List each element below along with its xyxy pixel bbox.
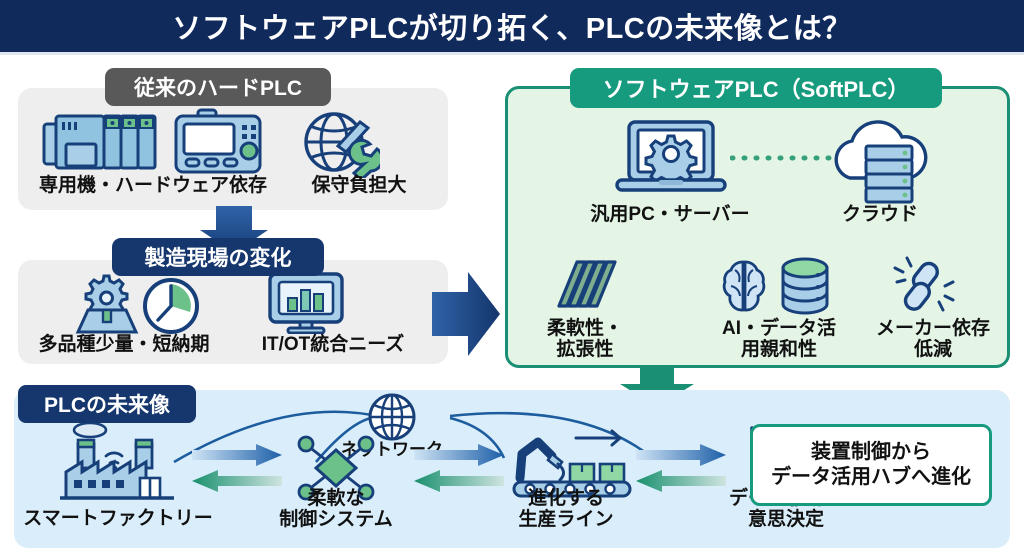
future-node-label-1-line2: 制御システム [279,509,392,530]
softplc-bottom-label-0-line1: 柔軟性・ [547,318,623,339]
globe-wrench-icon [300,108,380,178]
evolution-callout-line2: データ活用ハブへ進化 [771,465,971,490]
future-node-label-2-line1: 進化する [528,488,604,509]
future-node-label-1-line1: 柔軟な [307,488,364,509]
softplc-bottom-label-1-line1: AI・データ活 [722,318,836,339]
cloud-server-icon [822,112,938,204]
gear-box-clock-icon [70,272,210,334]
softplc-top-label-1: クラウド [800,204,960,225]
change-item-label-0: 多品種少量・短納期 [18,334,230,355]
future-node-label-0: スマートファクトリー [18,508,218,529]
page-title-bar: ソフトウェアPLCが切り拓く、PLCの未来像とは？ [0,0,1024,52]
future-node-label-3-line2: 意思決定 [748,509,824,530]
softplc-bottom-label-1: AI・データ活 用親和性 [690,318,868,361]
softplc-bottom-label-0-line2: 拡張性 [556,339,613,360]
change-item-label-1: IT/OT統合ニーズ [228,334,438,355]
evolution-callout-line1: 装置制御から [811,440,931,465]
brain-database-icon [713,256,845,318]
softplc-bottom-label-0: 柔軟性・ 拡張性 [520,318,650,361]
legacy-item-label-2: 保守負担大 [284,175,434,196]
shopfloor-change-badge: 製造現場の変化 [112,238,324,276]
title-underline [0,52,1024,55]
future-node-label-2: 進化する 生産ライン [486,488,646,531]
evolution-callout: 装置制御から データ活用ハブへ進化 [750,424,992,506]
softplc-bottom-label-1-line2: 用親和性 [741,339,817,360]
softplc-bottom-label-2: メーカー依存 低減 [860,318,1006,361]
softplc-bottom-label-2-line2: 低減 [914,339,952,360]
laptop-gear-icon [615,118,727,204]
smart-factory-icon [58,420,176,506]
softplc-top-label-0: 汎用PC・サーバー [570,204,770,225]
softplc-bottom-label-2-line1: メーカー依存 [876,318,990,339]
future-node-label-1: 柔軟な 制御システム [258,488,414,531]
softplc-badge: ソフトウェアPLC（SoftPLC） [570,68,942,108]
right-arrow-navy-icon [432,266,502,362]
legacy-plc-badge: 従来のハードPLC [105,68,331,106]
future-node-label-2-line2: 生産ライン [518,509,613,530]
plc-rack-icon [40,110,160,176]
dotted-connector-icon [730,152,836,164]
broken-chain-icon [893,256,965,318]
future-plc-badge: PLCの未来像 [18,385,196,423]
legacy-item-label-0: 専用機・ハードウェア依存 [18,175,288,196]
page-title: ソフトウェアPLCが切り拓く、PLCの未来像とは？ [172,5,852,47]
monitor-chart-icon [266,272,346,334]
hmi-panel-icon [172,108,264,178]
infographic-canvas: ソフトウェアPLCが切り拓く、PLCの未来像とは？ 従来のハードPLC [0,0,1024,559]
spring-coil-icon [547,256,619,318]
